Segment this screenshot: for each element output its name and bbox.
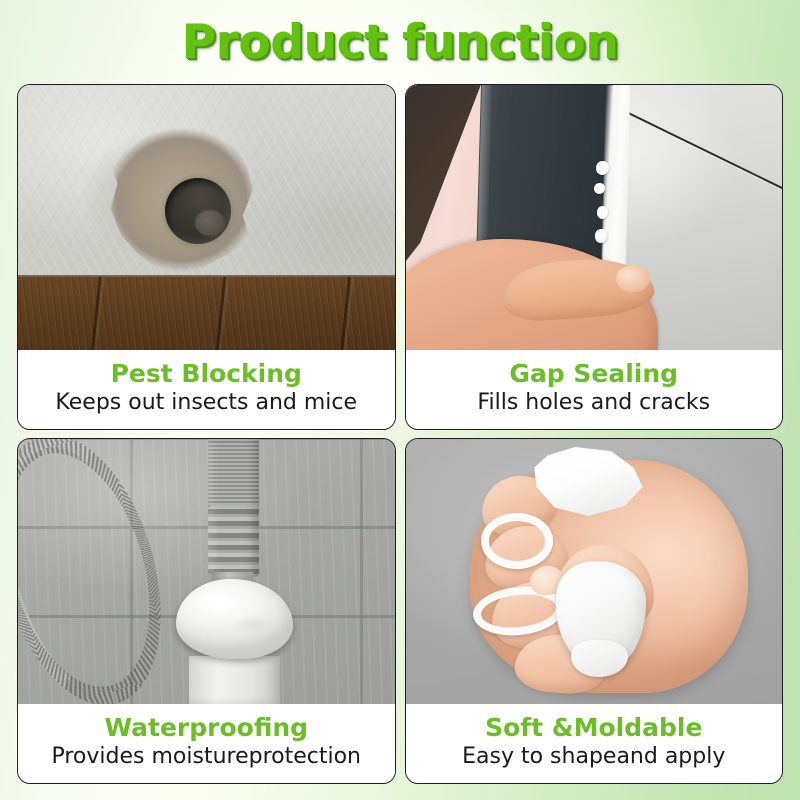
feature-card-soft-moldable[interactable]: Soft &Moldable Easy to shapeand apply (405, 438, 784, 784)
caption-title: Waterproofing (104, 715, 308, 741)
hole-inner-pipe (195, 210, 225, 237)
putty-blobs (594, 159, 613, 249)
caption-title: Pest Blocking (111, 361, 302, 387)
putty-blob (595, 229, 607, 243)
photo-finger-sealing-gap (406, 85, 783, 350)
putty-blob (597, 206, 608, 219)
caption-subtitle: Keeps out insects and mice (55, 391, 357, 415)
caption-title: Soft &Moldable (485, 715, 702, 741)
photo-wall-with-hole (18, 85, 395, 350)
caption-subtitle: Provides moistureprotection (51, 745, 361, 769)
feature-card-grid: Pest Blocking Keeps out insects and mice (17, 84, 783, 784)
fingertip (616, 265, 650, 292)
caption-pest-blocking: Pest Blocking Keeps out insects and mice (18, 350, 395, 429)
corrugated-hose-lower (208, 505, 259, 577)
putty-extrusion-ring (481, 513, 553, 569)
caption-soft-moldable: Soft &Moldable Easy to shapeand apply (406, 704, 783, 783)
caption-gap-sealing: Gap Sealing Fills holes and cracks (406, 350, 783, 429)
photo-pipe-sealed-with-putty (18, 439, 395, 704)
feature-card-pest-blocking[interactable]: Pest Blocking Keeps out insects and mice (17, 84, 396, 430)
feature-card-waterproofing[interactable]: Waterproofing Provides moistureprotectio… (17, 438, 396, 784)
header: Product function (0, 0, 800, 84)
feature-card-gap-sealing[interactable]: Gap Sealing Fills holes and cracks (405, 84, 784, 430)
caption-title: Gap Sealing (509, 361, 678, 387)
caption-waterproofing: Waterproofing Provides moistureprotectio… (18, 704, 395, 783)
putty-blob (594, 183, 606, 195)
wall-crack-line (616, 106, 782, 217)
page-title: Product function (182, 19, 619, 66)
corrugated-hose-upper (208, 439, 259, 508)
putty-blob (596, 161, 609, 175)
infographic-page: Product function Pest Blocking Keeps out… (0, 0, 800, 800)
caption-subtitle: Easy to shapeand apply (462, 745, 725, 769)
wall-hole (165, 178, 231, 244)
pvc-pipe (189, 656, 279, 704)
caption-subtitle: Fills holes and cracks (477, 391, 710, 415)
wood-floor (18, 277, 395, 350)
photo-hand-squeezing-putty (406, 439, 783, 704)
